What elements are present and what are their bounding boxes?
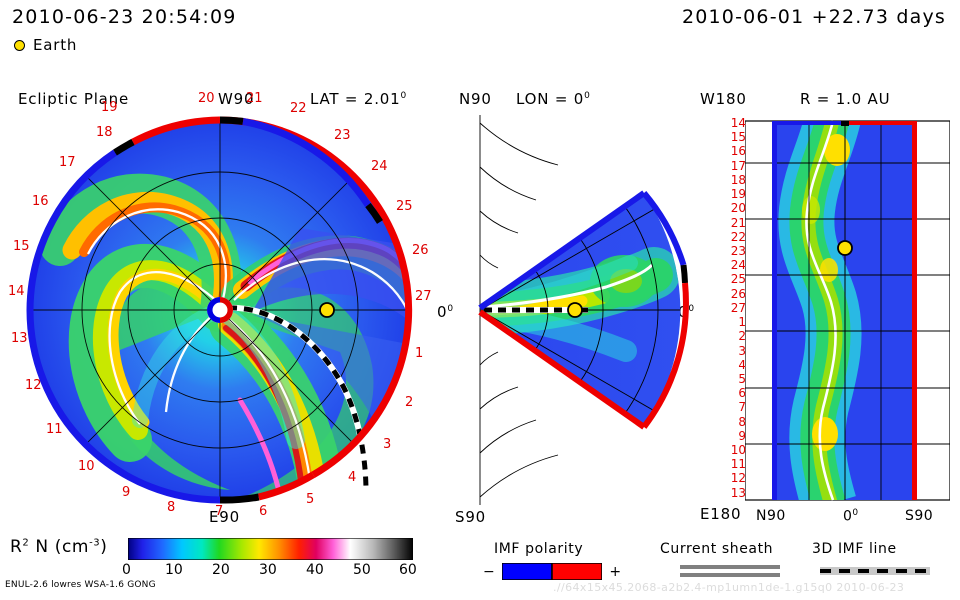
earth-marker-meridional	[568, 303, 582, 317]
ecliptic-hour-14: 14	[8, 284, 25, 299]
slab-row-label: 8	[738, 416, 746, 428]
slab-negative-edge	[772, 121, 777, 500]
slab-xlabel-zero-degree: 0	[852, 508, 858, 518]
slab-top-negative	[772, 121, 845, 125]
model-version-footer: ENUL-2.6 lowres WSA-1.6 GONG	[5, 580, 156, 590]
ecliptic-hour-15: 15	[13, 239, 30, 254]
imf-plus-label: +	[609, 564, 621, 580]
ecliptic-hour-21: 21	[246, 91, 263, 106]
slab-row-label: 17	[731, 160, 746, 172]
ecliptic-hour-18: 18	[96, 125, 113, 140]
slab-top-left-label: W180	[700, 90, 747, 108]
ecliptic-hour-12: 12	[25, 378, 42, 393]
slab-row-label: 12	[731, 472, 746, 484]
slab-panel-title: R = 1.0 AU	[800, 90, 890, 108]
colorbar-tick: 10	[165, 562, 183, 578]
slab-row-label: 15	[731, 131, 746, 143]
slab-top-neutral	[841, 121, 849, 126]
imf-polarity-legend-title: IMF polarity	[494, 541, 583, 557]
ecliptic-hour-3: 3	[383, 437, 391, 452]
colorbar-tick: 40	[306, 562, 324, 578]
slab-plot[interactable]	[745, 118, 950, 503]
slab-row-label: 18	[731, 174, 746, 186]
slab-bottom-left-label: E180	[700, 505, 741, 523]
slab-row-label: 6	[738, 387, 746, 399]
ecliptic-hour-11: 11	[46, 422, 63, 437]
ecliptic-hour-26: 26	[412, 243, 429, 258]
colorbar-tick: 50	[353, 562, 371, 578]
ecliptic-hour-22: 22	[290, 101, 307, 116]
run-start-label: 2010-06-01 +22.73 days	[682, 6, 946, 28]
slab-xlabel-zero-value: 0	[843, 509, 852, 525]
ecliptic-hour-4: 4	[348, 470, 356, 485]
imf-polarity-swatch	[502, 563, 602, 580]
slab-row-label: 22	[731, 231, 746, 243]
timestamp-label: 2010-06-23 20:54:09	[12, 6, 237, 28]
earth-legend-label: Earth	[33, 36, 77, 54]
slab-row-label: 20	[731, 202, 746, 214]
slab-row-label: 25	[731, 273, 746, 285]
slab-row-label: 13	[731, 487, 746, 499]
colorbar-tick: 0	[122, 562, 131, 578]
slab-row-label: 16	[731, 145, 746, 157]
slab-row-label: 2	[738, 330, 746, 342]
ecliptic-hour-2: 2	[405, 395, 413, 410]
current-sheath-swatch	[680, 564, 780, 578]
slab-positive-edge	[912, 121, 917, 500]
current-sheath-legend-title: Current sheath	[660, 541, 773, 557]
meridional-plot[interactable]	[440, 105, 690, 515]
imf-minus-label: −	[483, 564, 495, 580]
earth-marker-ecliptic	[320, 303, 334, 317]
slab-row-label: 24	[731, 259, 746, 271]
slab-top-positive	[845, 121, 917, 125]
slab-row-label: 11	[731, 458, 746, 470]
colorbar-tick: 60	[399, 562, 417, 578]
slab-row-labels: 14 15 16 17 18 19 20 21 22 23 24 25 26 2…	[718, 117, 746, 499]
ecliptic-hour-24: 24	[371, 159, 388, 174]
ecliptic-hour-10: 10	[78, 459, 95, 474]
colorbar-label-unit: -3	[89, 537, 100, 548]
colorbar-label-exp: 2	[22, 537, 29, 548]
ecliptic-hour-19: 19	[101, 100, 118, 115]
slab-row-label: 3	[738, 345, 746, 357]
run-id-watermark: .//64x15x45.2068-a2b2.4-mp1umn1de-1.g15q…	[553, 581, 904, 594]
slab-row-label: 19	[731, 188, 746, 200]
slab-row-label: 9	[738, 430, 746, 442]
ecliptic-hour-23: 23	[334, 128, 351, 143]
ecliptic-hour-5: 5	[306, 492, 314, 507]
ecliptic-hour-27: 27	[415, 289, 432, 304]
colorbar[interactable]	[128, 538, 413, 560]
slab-xlabel-n90: N90	[756, 508, 786, 524]
slab-row-label: 4	[738, 359, 746, 371]
slab-row-label: 14	[731, 117, 746, 129]
slab-row-label: 26	[731, 288, 746, 300]
ecliptic-hour-9: 9	[122, 485, 130, 500]
earth-marker-slab	[838, 241, 852, 255]
earth-legend: Earth	[14, 36, 77, 54]
ecliptic-hour-1: 1	[415, 346, 423, 361]
ecliptic-hour-16: 16	[32, 194, 49, 209]
colorbar-tick: 30	[259, 562, 277, 578]
ecliptic-hour-17: 17	[59, 155, 76, 170]
slab-row-label: 23	[731, 245, 746, 257]
slab-row-label: 27	[731, 302, 746, 314]
ecliptic-hour-13: 13	[11, 331, 28, 346]
colorbar-tick: 20	[212, 562, 230, 578]
slab-xlabel-s90: S90	[905, 508, 933, 524]
slab-row-label: 21	[731, 217, 746, 229]
imf-line-swatch	[820, 564, 930, 578]
slab-row-label: 7	[738, 401, 746, 413]
meridional-lon-degree: 0	[584, 91, 591, 101]
ecliptic-hour-20: 20	[198, 91, 215, 106]
imf-polarity-legend: − +	[483, 563, 622, 580]
earth-marker-icon	[14, 40, 25, 51]
ecliptic-hour-25: 25	[396, 199, 413, 214]
slab-row-label: 1	[738, 316, 746, 328]
slab-row-label: 5	[738, 373, 746, 385]
colorbar-label-close: )	[100, 537, 107, 557]
slab-row-label: 10	[731, 444, 746, 456]
slab-xlabel-zero: 00	[843, 508, 859, 525]
ecliptic-hour-8: 8	[167, 500, 175, 515]
colorbar-label: R2 N (cm-3)	[10, 537, 107, 557]
ecliptic-hour-6: 6	[259, 504, 267, 519]
sun-marker	[207, 297, 233, 323]
ecliptic-hour-7: 7	[215, 504, 223, 519]
colorbar-label-rest: N (cm	[35, 537, 89, 557]
colorbar-label-r: R	[10, 537, 22, 557]
imf-line-legend-title: 3D IMF line	[812, 541, 897, 557]
